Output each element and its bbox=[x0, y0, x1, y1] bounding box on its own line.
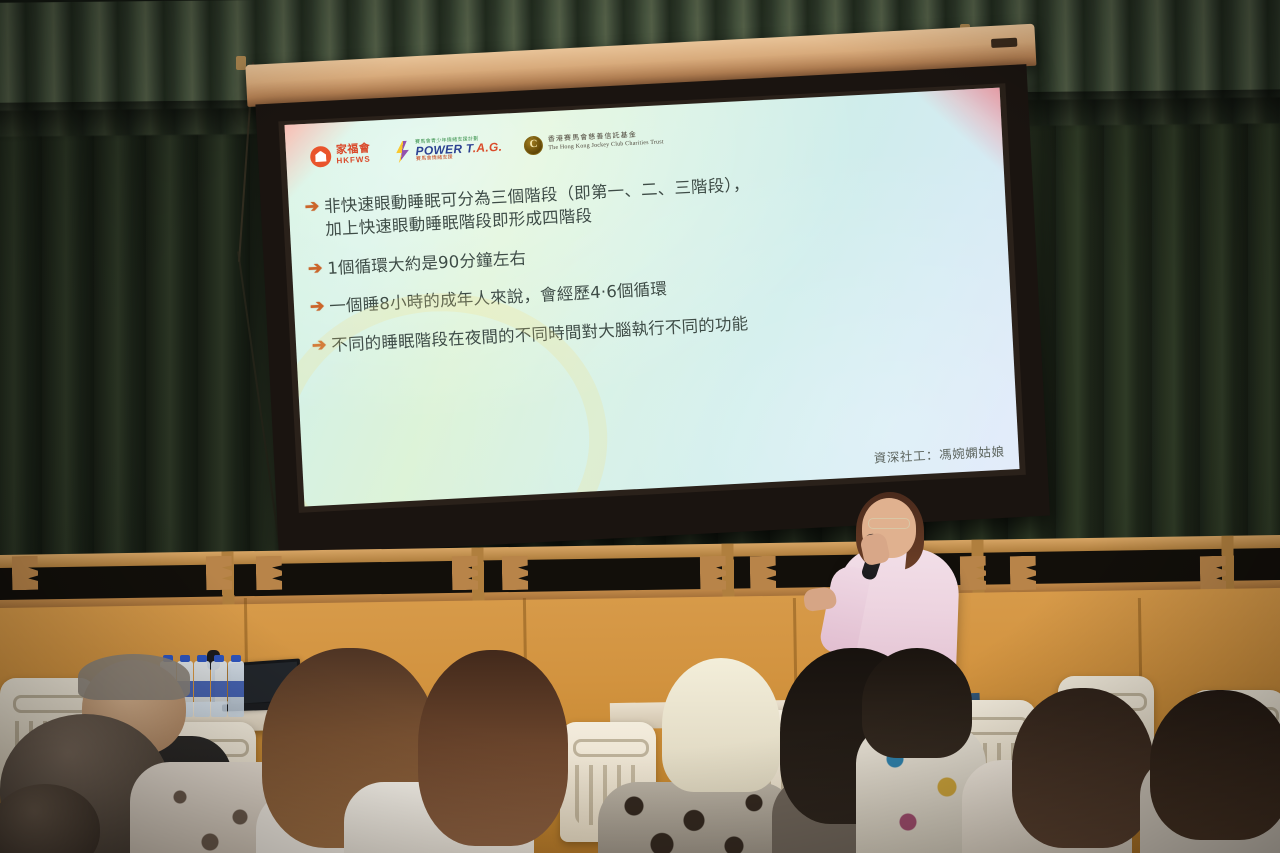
logo-power-tag: 賽馬會青少年情緒支援計劃 POWER T.A.G. 賽馬會情緒支援 bbox=[392, 136, 503, 164]
rail-ornament bbox=[452, 556, 479, 590]
lightning-bolt-icon bbox=[392, 140, 413, 163]
water-bottle bbox=[228, 661, 244, 717]
slide-bullet-text: 非快速眼動睡眠可分為三個階段（即第一、二、三階段）， 加上快速眼動睡眠階段即形成… bbox=[323, 173, 751, 242]
arrow-bullet-icon: ➔ bbox=[312, 336, 327, 354]
rail-ornament bbox=[700, 556, 727, 590]
hkfws-house-icon bbox=[310, 145, 332, 167]
rail-ornament bbox=[1010, 556, 1037, 590]
slide-bullet-list: ➔ 非快速眼動睡眠可分為三個階段（即第一、二、三階段）， 加上快速眼動睡眠階段即… bbox=[304, 160, 1002, 358]
slide-bullet-text: 不同的睡眠階段在夜間的不同時間對大腦執行不同的功能 bbox=[331, 312, 749, 357]
water-bottle bbox=[211, 661, 227, 717]
arrow-bullet-icon: ➔ bbox=[308, 259, 323, 277]
screen-casing-knob bbox=[991, 38, 1017, 48]
presentation-photo-scene: 家福會 HKFWS 賽馬會青少年情緒支援計劃 POWER T.A.G. 賽馬會情… bbox=[0, 0, 1280, 853]
logo-hkfws: 家福會 HKFWS bbox=[310, 143, 372, 167]
jockey-club-seal-icon bbox=[524, 135, 544, 155]
logo-hkjc-charities-trust: 香港賽馬會慈善信託基金 The Hong Kong Jockey Club Ch… bbox=[524, 129, 664, 155]
power-tag-main-accent: .A.G. bbox=[472, 140, 502, 156]
hkfws-english-label: HKFWS bbox=[336, 156, 371, 166]
water-bottle bbox=[194, 661, 210, 717]
rail-ornament bbox=[12, 556, 39, 590]
rail-ornament bbox=[1200, 556, 1227, 590]
rail-ornament bbox=[206, 556, 233, 590]
glasses-icon bbox=[868, 518, 910, 529]
rail-ornament bbox=[750, 556, 777, 590]
arrow-bullet-icon: ➔ bbox=[304, 197, 319, 215]
rail-ornament bbox=[256, 556, 283, 590]
slide-bullet-text: 1個循環大約是90分鐘左右 bbox=[327, 246, 527, 280]
arrow-bullet-icon: ➔ bbox=[310, 297, 325, 315]
slide-logo-row: 家福會 HKFWS 賽馬會青少年情緒支援計劃 POWER T.A.G. 賽馬會情… bbox=[310, 127, 664, 167]
projector-screen: 家福會 HKFWS 賽馬會青少年情緒支援計劃 POWER T.A.G. 賽馬會情… bbox=[245, 24, 1060, 570]
rail-ornament bbox=[960, 556, 987, 590]
slide-credit-line: 資深社工：馮婉嫻姑娘 bbox=[873, 441, 1005, 467]
slide-bullet-text: 一個睡8小時的成年人來說，會經歷4‧6個循環 bbox=[329, 278, 668, 319]
projected-slide: 家福會 HKFWS 賽馬會青少年情緒支援計劃 POWER T.A.G. 賽馬會情… bbox=[285, 88, 1020, 507]
rail-ornament bbox=[502, 556, 529, 590]
